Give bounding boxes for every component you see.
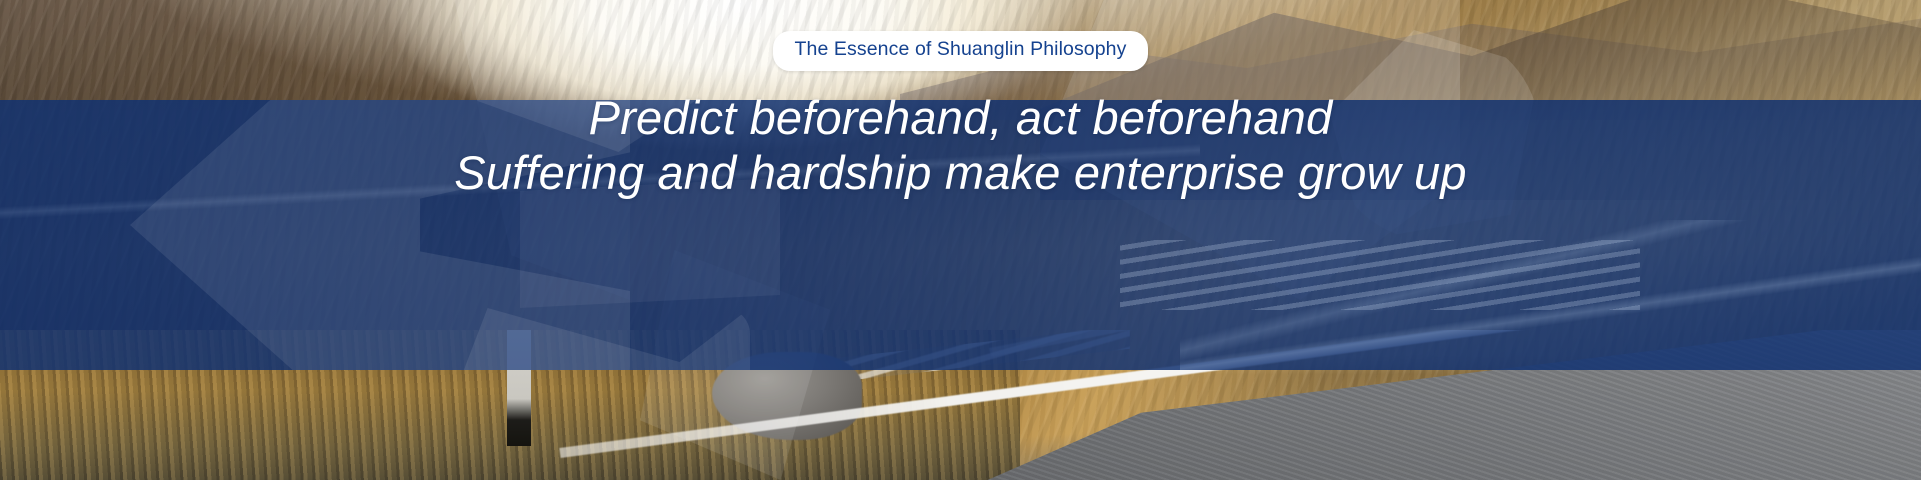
banner-content: The Essence of Shuanglin Philosophy Pred… — [0, 0, 1921, 480]
hero-banner: The Essence of Shuanglin Philosophy Pred… — [0, 0, 1921, 480]
banner-headline: Predict beforehand, act beforehand Suffe… — [454, 90, 1466, 202]
headline-line-2: Suffering and hardship make enterprise g… — [454, 145, 1466, 201]
headline-line-1: Predict beforehand, act beforehand — [454, 90, 1466, 146]
philosophy-badge: The Essence of Shuanglin Philosophy — [773, 31, 1149, 71]
